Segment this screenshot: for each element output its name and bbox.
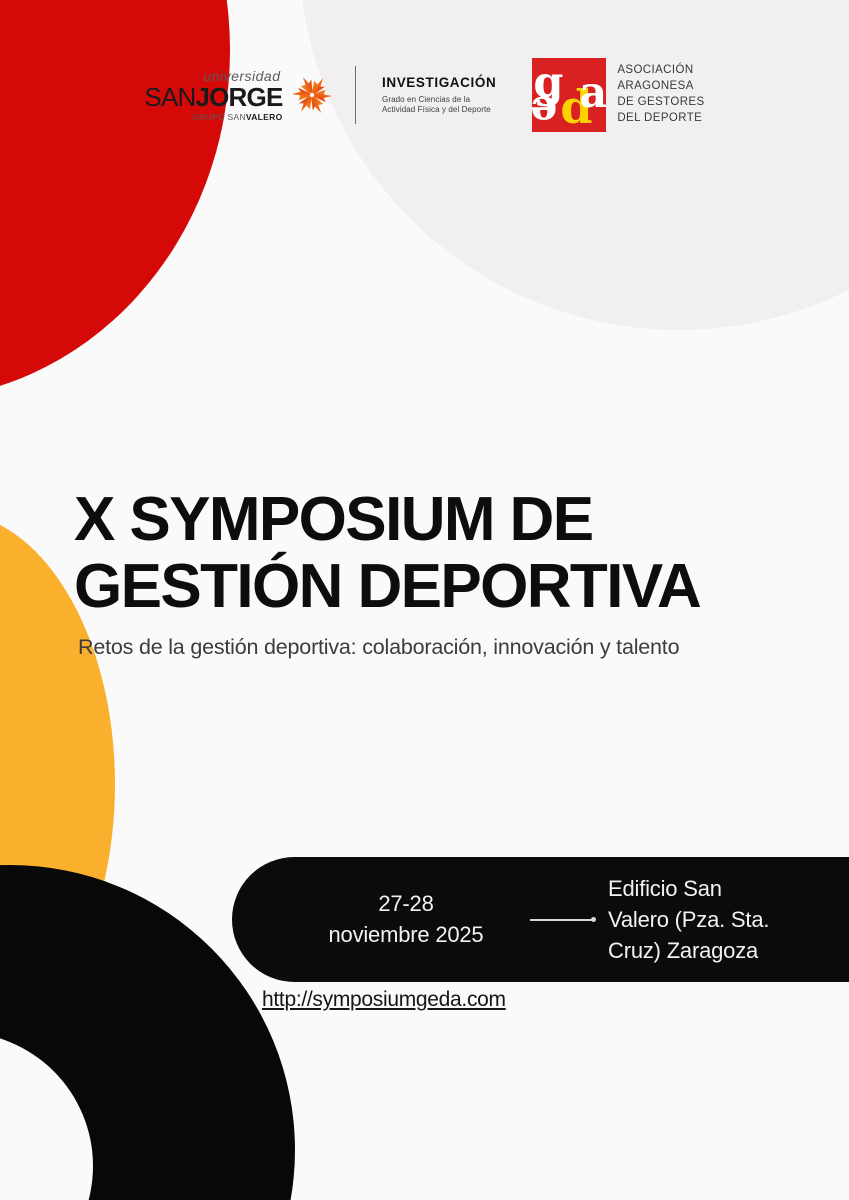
event-website-link[interactable]: http://symposiumgeda.com: [262, 988, 506, 1012]
usj-jorge-text: JORGE: [195, 82, 282, 112]
usj-wordmark: universidad SANJORGE GRUPO SANVALERO: [144, 69, 282, 122]
investigacion-sub-line2: Actividad Física y del Deporte: [382, 105, 496, 115]
logo-universidad-san-jorge: universidad SANJORGE GRUPO SANVALERO: [144, 69, 332, 122]
poster-subtitle: Retos de la gestión deportiva: colaborac…: [78, 635, 794, 660]
investigacion-title: INVESTIGACIÓN: [382, 75, 496, 92]
decorative-gray-circle: [299, 0, 849, 330]
investigacion-sub-line1: Grado en Ciencias de la: [382, 95, 496, 105]
investigacion-subtitle: Grado en Ciencias de la Actividad Física…: [382, 95, 496, 115]
logo-investigacion: INVESTIGACIÓN Grado en Ciencias de la Ac…: [382, 75, 496, 116]
usj-sanjorge-text: SANJORGE: [144, 84, 282, 110]
event-date-line2: noviembre 2025: [288, 920, 524, 950]
poster-title-line1: X SYMPOSIUM DE: [74, 487, 794, 554]
geda-line-3: DE GESTORES: [617, 95, 704, 111]
logo-divider: [355, 66, 357, 124]
connector-bar: [530, 919, 592, 921]
usj-grupo-prefix: GRUPO SAN: [192, 112, 246, 122]
poster-title-line2: GESTIÓN DEPORTIVA: [74, 554, 794, 621]
title-block: X SYMPOSIUM DE GESTIÓN DEPORTIVA Retos d…: [74, 487, 794, 660]
usj-star-icon: [291, 74, 333, 116]
geda-letter-e: e: [532, 89, 557, 132]
usj-grupo-valero: VALERO: [246, 112, 283, 122]
geda-letter-a: a: [579, 72, 606, 115]
connector-dot: [591, 917, 596, 922]
event-venue-line3: Cruz) Zaragoza: [608, 935, 818, 966]
poster-canvas: universidad SANJORGE GRUPO SANVALERO: [0, 0, 849, 1200]
connector-line-icon: [530, 914, 602, 926]
geda-mark-icon: g e d a: [532, 58, 606, 132]
geda-line-4: DEL DEPORTE: [617, 111, 704, 127]
logo-bar: universidad SANJORGE GRUPO SANVALERO: [0, 58, 849, 132]
event-date: 27-28 noviembre 2025: [288, 889, 524, 950]
usj-san-text: SAN: [144, 82, 195, 112]
geda-line-2: ARAGONESA: [617, 79, 704, 95]
logo-geda: g e d a ASOCIACIÓN ARAGONESA DE GESTORES…: [532, 58, 704, 132]
geda-wordmark-text: ASOCIACIÓN ARAGONESA DE GESTORES DEL DEP…: [617, 63, 704, 126]
event-info-pill: 27-28 noviembre 2025 Edificio San Valero…: [232, 857, 849, 982]
event-venue-line1: Edificio San: [608, 873, 818, 904]
event-venue-line2: Valero (Pza. Sta.: [608, 904, 818, 935]
usj-universidad-text: universidad: [203, 69, 280, 83]
poster-title: X SYMPOSIUM DE GESTIÓN DEPORTIVA: [74, 487, 794, 621]
geda-line-1: ASOCIACIÓN: [617, 63, 704, 79]
event-venue: Edificio San Valero (Pza. Sta. Cruz) Zar…: [608, 873, 818, 967]
usj-grupo-san-valero-text: GRUPO SANVALERO: [192, 113, 282, 122]
event-date-line1: 27-28: [288, 889, 524, 919]
